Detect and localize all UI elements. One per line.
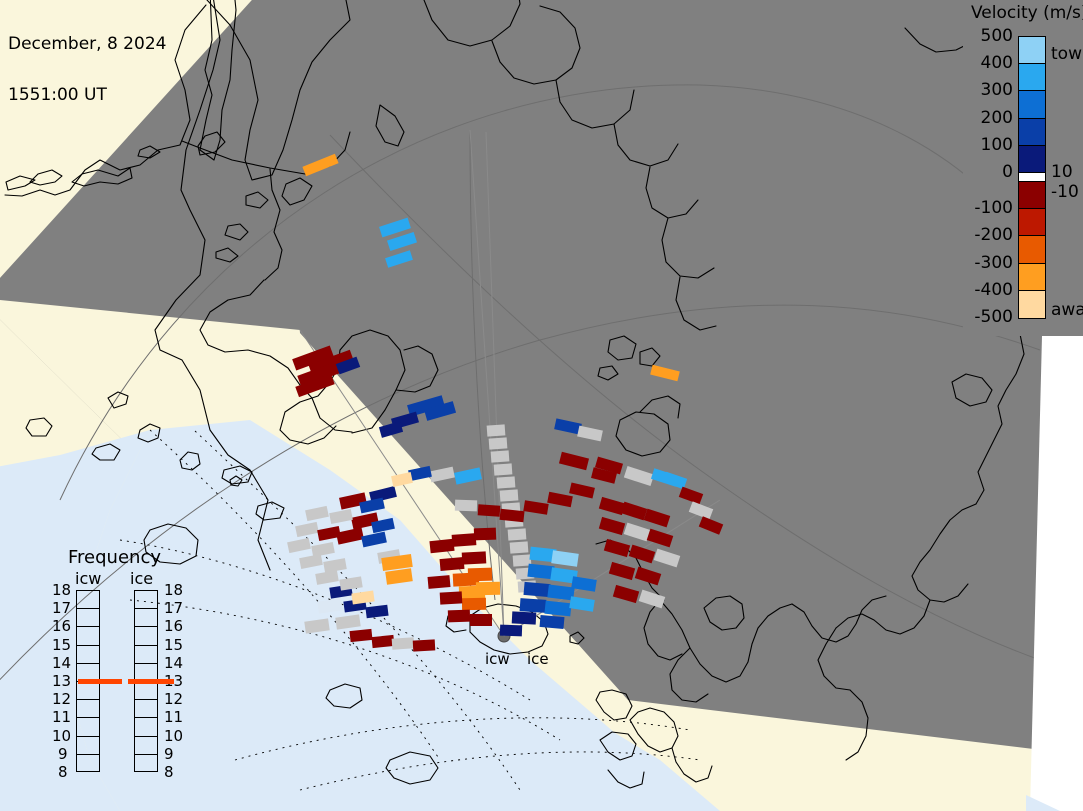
- radar-cell: [305, 506, 329, 521]
- colorbar-band-1: [1019, 64, 1045, 91]
- radar-cell: [335, 614, 360, 629]
- radar-cell: [551, 550, 579, 566]
- radar-cell: [554, 418, 582, 434]
- frequency-marker-icw: [78, 679, 122, 684]
- radar-cell: [470, 614, 492, 626]
- radar-cell: [547, 584, 574, 600]
- frequency-tick-left-8: 8: [58, 763, 68, 781]
- frequency-row: [135, 700, 157, 718]
- colorbar-tick--200: -200: [974, 225, 1013, 245]
- colorbar-tick-400: 400: [981, 53, 1013, 73]
- radar-fan-plot: December, 8 2024 1551:00 UT Velocity (m/…: [0, 0, 1083, 811]
- radar-cell: [644, 509, 671, 528]
- colorbar-tick-500: 500: [981, 26, 1013, 46]
- radar-cell: [478, 504, 501, 517]
- radar-cell: [547, 492, 573, 507]
- colorbar-inner-negative-label: -10: [1051, 182, 1079, 202]
- radar-cell: [385, 250, 413, 268]
- plot-time: 1551:00 UT: [8, 87, 166, 104]
- radar-cell: [299, 554, 323, 569]
- colorbar-tick--300: -300: [974, 253, 1013, 273]
- radar-cell: [494, 463, 513, 475]
- frequency-row: [77, 682, 99, 700]
- frequency-row: [77, 737, 99, 755]
- colorbar-band-9: [1019, 264, 1045, 291]
- colorbar-band-3: [1019, 119, 1045, 146]
- radar-cell: [379, 421, 403, 438]
- frequency-row: [77, 609, 99, 627]
- radar-cell: [392, 637, 415, 650]
- radar-cell: [317, 598, 342, 613]
- frequency-column-icw-label: icw: [75, 569, 101, 588]
- radar-cell: [428, 575, 451, 589]
- radar-cell: [569, 596, 595, 612]
- radar-cell: [635, 567, 662, 586]
- radar-cell: [317, 526, 341, 541]
- radar-cell: [513, 554, 532, 566]
- colorbar-toward-label: toward: [1051, 44, 1083, 64]
- frequency-tick-right-8: 8: [164, 763, 174, 781]
- frequency-tick-left-10: 10: [52, 727, 71, 745]
- radar-cell: [491, 450, 510, 462]
- frequency-row: [135, 755, 157, 773]
- timestamp-block: December, 8 2024 1551:00 UT: [8, 2, 166, 138]
- frequency-panel: Frequency icw ice 18171615141312111098 1…: [50, 545, 200, 795]
- frequency-panel-title: Frequency: [68, 547, 161, 568]
- colorbar-tick-300: 300: [981, 80, 1013, 100]
- colorbar-tick-200: 200: [981, 108, 1013, 128]
- radar-cell: [474, 528, 496, 541]
- radar-cell: [462, 551, 487, 564]
- radar-cell: [455, 500, 477, 512]
- radar-cell: [497, 476, 516, 488]
- radar-cell: [311, 542, 335, 557]
- radar-cell: [351, 591, 374, 605]
- radar-cell: [500, 489, 519, 501]
- frequency-row: [77, 755, 99, 773]
- radar-cell: [624, 466, 654, 486]
- plot-date: December, 8 2024: [8, 36, 166, 53]
- radar-cell: [624, 523, 651, 542]
- radar-cell: [679, 487, 703, 505]
- colorbar-band-0: [1019, 37, 1045, 64]
- radar-cell: [512, 611, 537, 624]
- frequency-tick-left-14: 14: [52, 654, 71, 672]
- frequency-tick-left-18: 18: [52, 581, 71, 599]
- radar-cell: [689, 501, 713, 519]
- frequency-row: [77, 627, 99, 645]
- radar-cell: [520, 598, 547, 613]
- frequency-row: [135, 609, 157, 627]
- radar-cell: [487, 424, 506, 436]
- frequency-tick-right-10: 10: [164, 727, 183, 745]
- frequency-marker-ice: [128, 679, 174, 684]
- frequency-row: [77, 718, 99, 736]
- frequency-row: [135, 718, 157, 736]
- radar-cell: [387, 232, 417, 251]
- radar-cell: [287, 538, 311, 553]
- colorbar-band-8: [1019, 236, 1045, 263]
- radar-cell: [577, 426, 603, 442]
- radar-cell: [452, 533, 477, 547]
- frequency-tick-right-9: 9: [164, 745, 174, 763]
- frequency-row: [135, 627, 157, 645]
- frequency-tick-left-13: 13: [52, 672, 71, 690]
- radar-cell: [508, 528, 527, 540]
- radar-cell: [510, 541, 529, 553]
- colorbar-band-10: [1019, 291, 1045, 318]
- radar-cell: [613, 585, 639, 603]
- radar-cell: [629, 545, 656, 564]
- radar-cell: [365, 605, 388, 619]
- radar-cell: [295, 522, 319, 537]
- radar-cell: [462, 598, 486, 610]
- radar-cell: [559, 452, 589, 470]
- colorbar-tick--400: -400: [974, 280, 1013, 300]
- frequency-tick-right-14: 14: [164, 654, 183, 672]
- radar-cell: [440, 557, 465, 571]
- beam-label-icw: icw: [485, 650, 510, 668]
- frequency-tick-left-9: 9: [58, 745, 68, 763]
- frequency-tick-left-12: 12: [52, 690, 71, 708]
- frequency-tick-right-18: 18: [164, 581, 183, 599]
- radar-cell: [571, 576, 597, 592]
- radar-cell: [604, 539, 630, 557]
- frequency-row: [135, 591, 157, 609]
- radar-cell: [429, 539, 454, 553]
- frequency-row: [77, 700, 99, 718]
- radar-cell: [489, 437, 508, 449]
- frequency-tick-left-15: 15: [52, 636, 71, 654]
- beam-label-ice: ice: [527, 650, 549, 668]
- colorbar-tick-0: 0: [1002, 162, 1013, 182]
- colorbar-band-5: [1019, 173, 1045, 182]
- frequency-row: [135, 737, 157, 755]
- radar-cell: [323, 558, 347, 573]
- radar-cell: [468, 568, 492, 582]
- colorbar-band-2: [1019, 91, 1045, 118]
- colorbar-tick--100: -100: [974, 198, 1013, 218]
- frequency-tick-right-17: 17: [164, 599, 183, 617]
- frequency-tick-left-17: 17: [52, 599, 71, 617]
- radar-cell: [639, 590, 666, 609]
- radar-cell: [663, 472, 687, 490]
- colorbar-band-6: [1019, 182, 1045, 209]
- radar-cell: [540, 615, 565, 629]
- radar-cell: [699, 516, 724, 534]
- radar-cell: [391, 472, 413, 487]
- colorbar-gradient: [1018, 36, 1046, 319]
- frequency-row: [77, 646, 99, 664]
- colorbar-band-7: [1019, 209, 1045, 236]
- frequency-row: [135, 682, 157, 700]
- radar-cell: [654, 549, 681, 568]
- radar-cell: [385, 568, 413, 584]
- velocity-colorbar: Velocity (m/s) 5004003002001000-100-200-…: [963, 0, 1083, 340]
- radar-cell: [647, 529, 674, 548]
- radar-cell: [523, 582, 550, 597]
- radar-cell: [609, 562, 635, 580]
- radar-cell: [569, 482, 595, 498]
- radar-cell: [302, 154, 338, 176]
- radar-cell: [329, 509, 353, 524]
- colorbar-band-4: [1019, 146, 1045, 173]
- radar-cell: [599, 517, 625, 535]
- radar-cell: [448, 610, 470, 623]
- radar-cell: [349, 629, 372, 642]
- frequency-column-ice-label: ice: [130, 569, 153, 588]
- frequency-tick-right-16: 16: [164, 617, 183, 635]
- radar-cell: [361, 532, 387, 548]
- radar-cell: [499, 509, 524, 522]
- radar-cell: [621, 502, 648, 521]
- radar-cell: [339, 576, 362, 590]
- colorbar-away-label: away: [1051, 300, 1083, 320]
- radar-cell: [500, 625, 522, 637]
- frequency-tick-left-16: 16: [52, 617, 71, 635]
- radar-cell: [440, 591, 463, 604]
- colorbar-tick-100: 100: [981, 135, 1013, 155]
- radar-cell: [476, 582, 500, 595]
- radar-cell: [429, 467, 455, 483]
- radar-cell: [413, 639, 436, 651]
- radar-cell: [544, 601, 571, 617]
- radar-cell: [454, 467, 482, 484]
- radar-cell: [371, 635, 394, 648]
- colorbar-inner-positive-label: 10: [1051, 162, 1073, 182]
- colorbar-tick--500: -500: [974, 307, 1013, 327]
- frequency-row: [77, 591, 99, 609]
- radar-cell: [527, 564, 554, 580]
- frequency-row: [135, 646, 157, 664]
- frequency-tick-right-15: 15: [164, 636, 183, 654]
- radar-cell: [304, 618, 329, 633]
- radar-cell: [523, 500, 548, 515]
- frequency-tick-right-12: 12: [164, 690, 183, 708]
- frequency-tick-left-11: 11: [52, 708, 71, 726]
- colorbar-title: Velocity (m/s): [971, 3, 1083, 23]
- radar-cell: [650, 365, 680, 381]
- frequency-tick-right-11: 11: [164, 708, 183, 726]
